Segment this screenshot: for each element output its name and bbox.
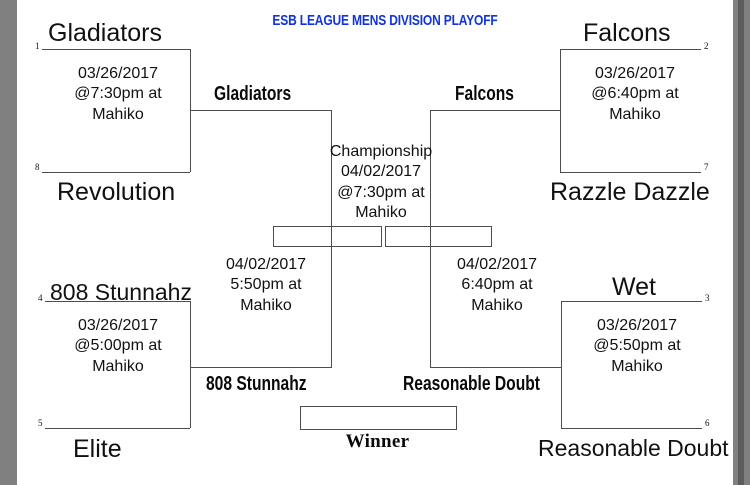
winner-caption: Winner [300,431,455,453]
team-name-seed-5: Elite [73,437,122,462]
connector-h-sf-left-top [190,110,331,111]
bracket-line-right-qf-bl [190,301,191,428]
connector-h-sf-right-bottom [430,367,561,368]
seed-number-2: 2 [704,42,709,51]
game-info-qf-bottom-right: 03/26/2017 @5:50pm at Mahiko [567,316,707,377]
bracket-line-top-qf-tl [42,49,190,50]
bracket-line-bottom-qf-tl [42,172,190,173]
team-name-seed-2: Falcons [583,21,671,46]
game-info-semifinal-right: 04/02/2017 6:40pm at Mahiko [427,255,567,316]
connector-h-sf-right-top [430,110,561,111]
seed-number-4: 4 [38,294,43,303]
connector-h-sf-left-bottom [190,367,332,368]
bracket-line-bottom-qf-bl [45,428,190,429]
seed-number-6: 6 [705,419,710,428]
finalist-slot-left[interactable] [273,226,382,247]
team-name-seed-7: Razzle Dazzle [550,180,710,205]
winner-label-qf-bottom-left: 808 Stunnahz [206,374,307,394]
bracket-line-top-qf-bl [45,301,190,302]
bracket-line-top-qf-tr [560,49,701,50]
bracket-line-bottom-qf-br [561,428,702,429]
winner-label-qf-top-right: Falcons [455,84,514,104]
bracket-line-top-qf-br [561,301,702,302]
seed-number-1: 1 [35,42,40,51]
winner-label-qf-bottom-right: Reasonable Doubt [403,374,540,394]
seed-number-3: 3 [705,294,710,303]
page-title: ESB LEAGUE MENS DIVISION PLAYOFF [265,12,505,29]
bracket-line-left-qf-br [561,301,562,428]
game-info-qf-top-right: 03/26/2017 @6:40pm at Mahiko [565,64,705,125]
team-name-seed-3: Wet [612,275,656,300]
right-edge-stripe [738,0,744,485]
seed-number-7: 7 [704,163,709,172]
seed-number-5: 5 [38,419,43,428]
finalist-slot-right[interactable] [385,226,492,247]
bracket-line-bottom-qf-tr [560,172,701,173]
left-margin-band [0,0,17,485]
championship-info: Championship 04/02/2017 @7:30pm at Mahik… [311,142,451,224]
game-info-qf-bottom-left: 03/26/2017 @5:00pm at Mahiko [48,316,188,377]
team-name-seed-6: Reasonable Doubt [538,437,729,460]
game-info-qf-top-left: 03/26/2017 @7:30pm at Mahiko [48,64,188,125]
team-name-seed-8: Revolution [57,180,175,205]
bracket-page: ESB LEAGUE MENS DIVISION PLAYOFF Gladiat… [0,0,750,485]
winner-label-qf-top-left: Gladiators [214,84,291,104]
champion-slot[interactable] [300,406,457,430]
seed-number-8: 8 [35,163,40,172]
game-info-semifinal-left: 04/02/2017 5:50pm at Mahiko [196,255,336,316]
team-name-seed-1: Gladiators [48,21,162,46]
